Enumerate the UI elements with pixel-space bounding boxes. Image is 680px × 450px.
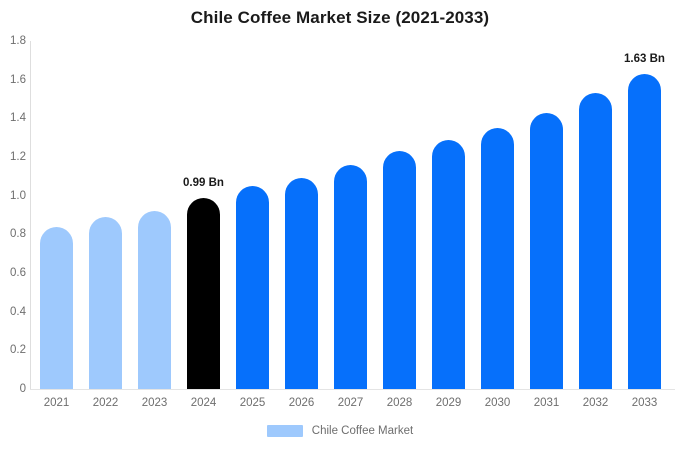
bar[interactable] [628, 74, 661, 389]
x-axis-tick-wrap: 2024 [187, 389, 220, 411]
y-axis-tick: 1.2 [2, 151, 26, 163]
bar[interactable] [334, 165, 367, 389]
y-axis-tick: 1.4 [2, 112, 26, 124]
bar-column[interactable] [138, 211, 171, 389]
y-axis-tick: 1.0 [2, 190, 26, 202]
x-axis-tick-wrap: 2021 [40, 389, 73, 411]
x-axis-tick-wrap: 2023 [138, 389, 171, 411]
x-axis-tick: 2028 [387, 397, 413, 409]
bar-column[interactable] [530, 113, 563, 389]
y-axis-tick: 1.8 [2, 35, 26, 47]
y-axis-tick: 0.2 [2, 344, 26, 356]
bar[interactable] [530, 113, 563, 389]
x-axis-tick: 2021 [44, 397, 70, 409]
x-axis-tick: 2031 [534, 397, 560, 409]
bar-chart: Chile Coffee Market Size (2021-2033) 00.… [0, 0, 680, 450]
bar[interactable] [138, 211, 171, 389]
x-axis-tick-wrap: 2025 [236, 389, 269, 411]
bar-value-label: 1.63 Bn [624, 53, 665, 65]
bar-column[interactable] [40, 227, 73, 389]
y-axis-tick: 1.6 [2, 74, 26, 86]
bar[interactable] [432, 140, 465, 389]
x-axis-tick: 2033 [632, 397, 658, 409]
bar[interactable] [187, 198, 220, 389]
x-axis-tick-wrap: 2026 [285, 389, 318, 411]
x-axis-tick: 2024 [191, 397, 217, 409]
bar-column[interactable] [383, 151, 416, 389]
bar-column[interactable]: 1.63 Bn [628, 74, 661, 389]
bar-column[interactable]: 0.99 Bn [187, 198, 220, 389]
x-axis-tick-wrap: 2027 [334, 389, 367, 411]
bar[interactable] [236, 186, 269, 389]
bar[interactable] [89, 217, 122, 389]
chart-legend: Chile Coffee Market [0, 425, 680, 437]
bar-column[interactable] [334, 165, 367, 389]
bar-column[interactable] [236, 186, 269, 389]
x-axis-tick: 2023 [142, 397, 168, 409]
x-axis-tick-wrap: 2031 [530, 389, 563, 411]
bar-column[interactable] [285, 178, 318, 389]
y-axis-tick: 0.4 [2, 306, 26, 318]
y-axis-line [30, 41, 31, 389]
x-axis-tick-wrap: 2032 [579, 389, 612, 411]
legend-swatch [267, 425, 303, 437]
x-axis-tick-wrap: 2030 [481, 389, 514, 411]
x-axis-tick: 2029 [436, 397, 462, 409]
legend-item[interactable]: Chile Coffee Market [267, 425, 413, 437]
bar[interactable] [285, 178, 318, 389]
bar-column[interactable] [481, 128, 514, 389]
y-axis-tick-labels: 00.20.40.60.81.01.21.41.61.8 [0, 0, 26, 450]
bar-column[interactable] [432, 140, 465, 389]
x-axis-tick: 2026 [289, 397, 315, 409]
bar-column[interactable] [89, 217, 122, 389]
chart-title: Chile Coffee Market Size (2021-2033) [0, 8, 680, 28]
bar[interactable] [40, 227, 73, 389]
bar[interactable] [383, 151, 416, 389]
x-axis-tick: 2027 [338, 397, 364, 409]
legend-label: Chile Coffee Market [312, 425, 413, 437]
bar[interactable] [579, 93, 612, 389]
y-axis-tick: 0.8 [2, 228, 26, 240]
x-axis-tick-wrap: 2028 [383, 389, 416, 411]
bar-column[interactable] [579, 93, 612, 389]
y-axis-tick: 0 [2, 383, 26, 395]
x-axis-tick: 2030 [485, 397, 511, 409]
x-axis-tick: 2022 [93, 397, 119, 409]
x-axis-tick-wrap: 2033 [628, 389, 661, 411]
x-axis-tick-wrap: 2022 [89, 389, 122, 411]
x-axis-tick: 2032 [583, 397, 609, 409]
x-axis-tick-wrap: 2029 [432, 389, 465, 411]
bar[interactable] [481, 128, 514, 389]
x-axis-tick: 2025 [240, 397, 266, 409]
y-axis-tick: 0.6 [2, 267, 26, 279]
bar-value-label: 0.99 Bn [183, 177, 224, 189]
